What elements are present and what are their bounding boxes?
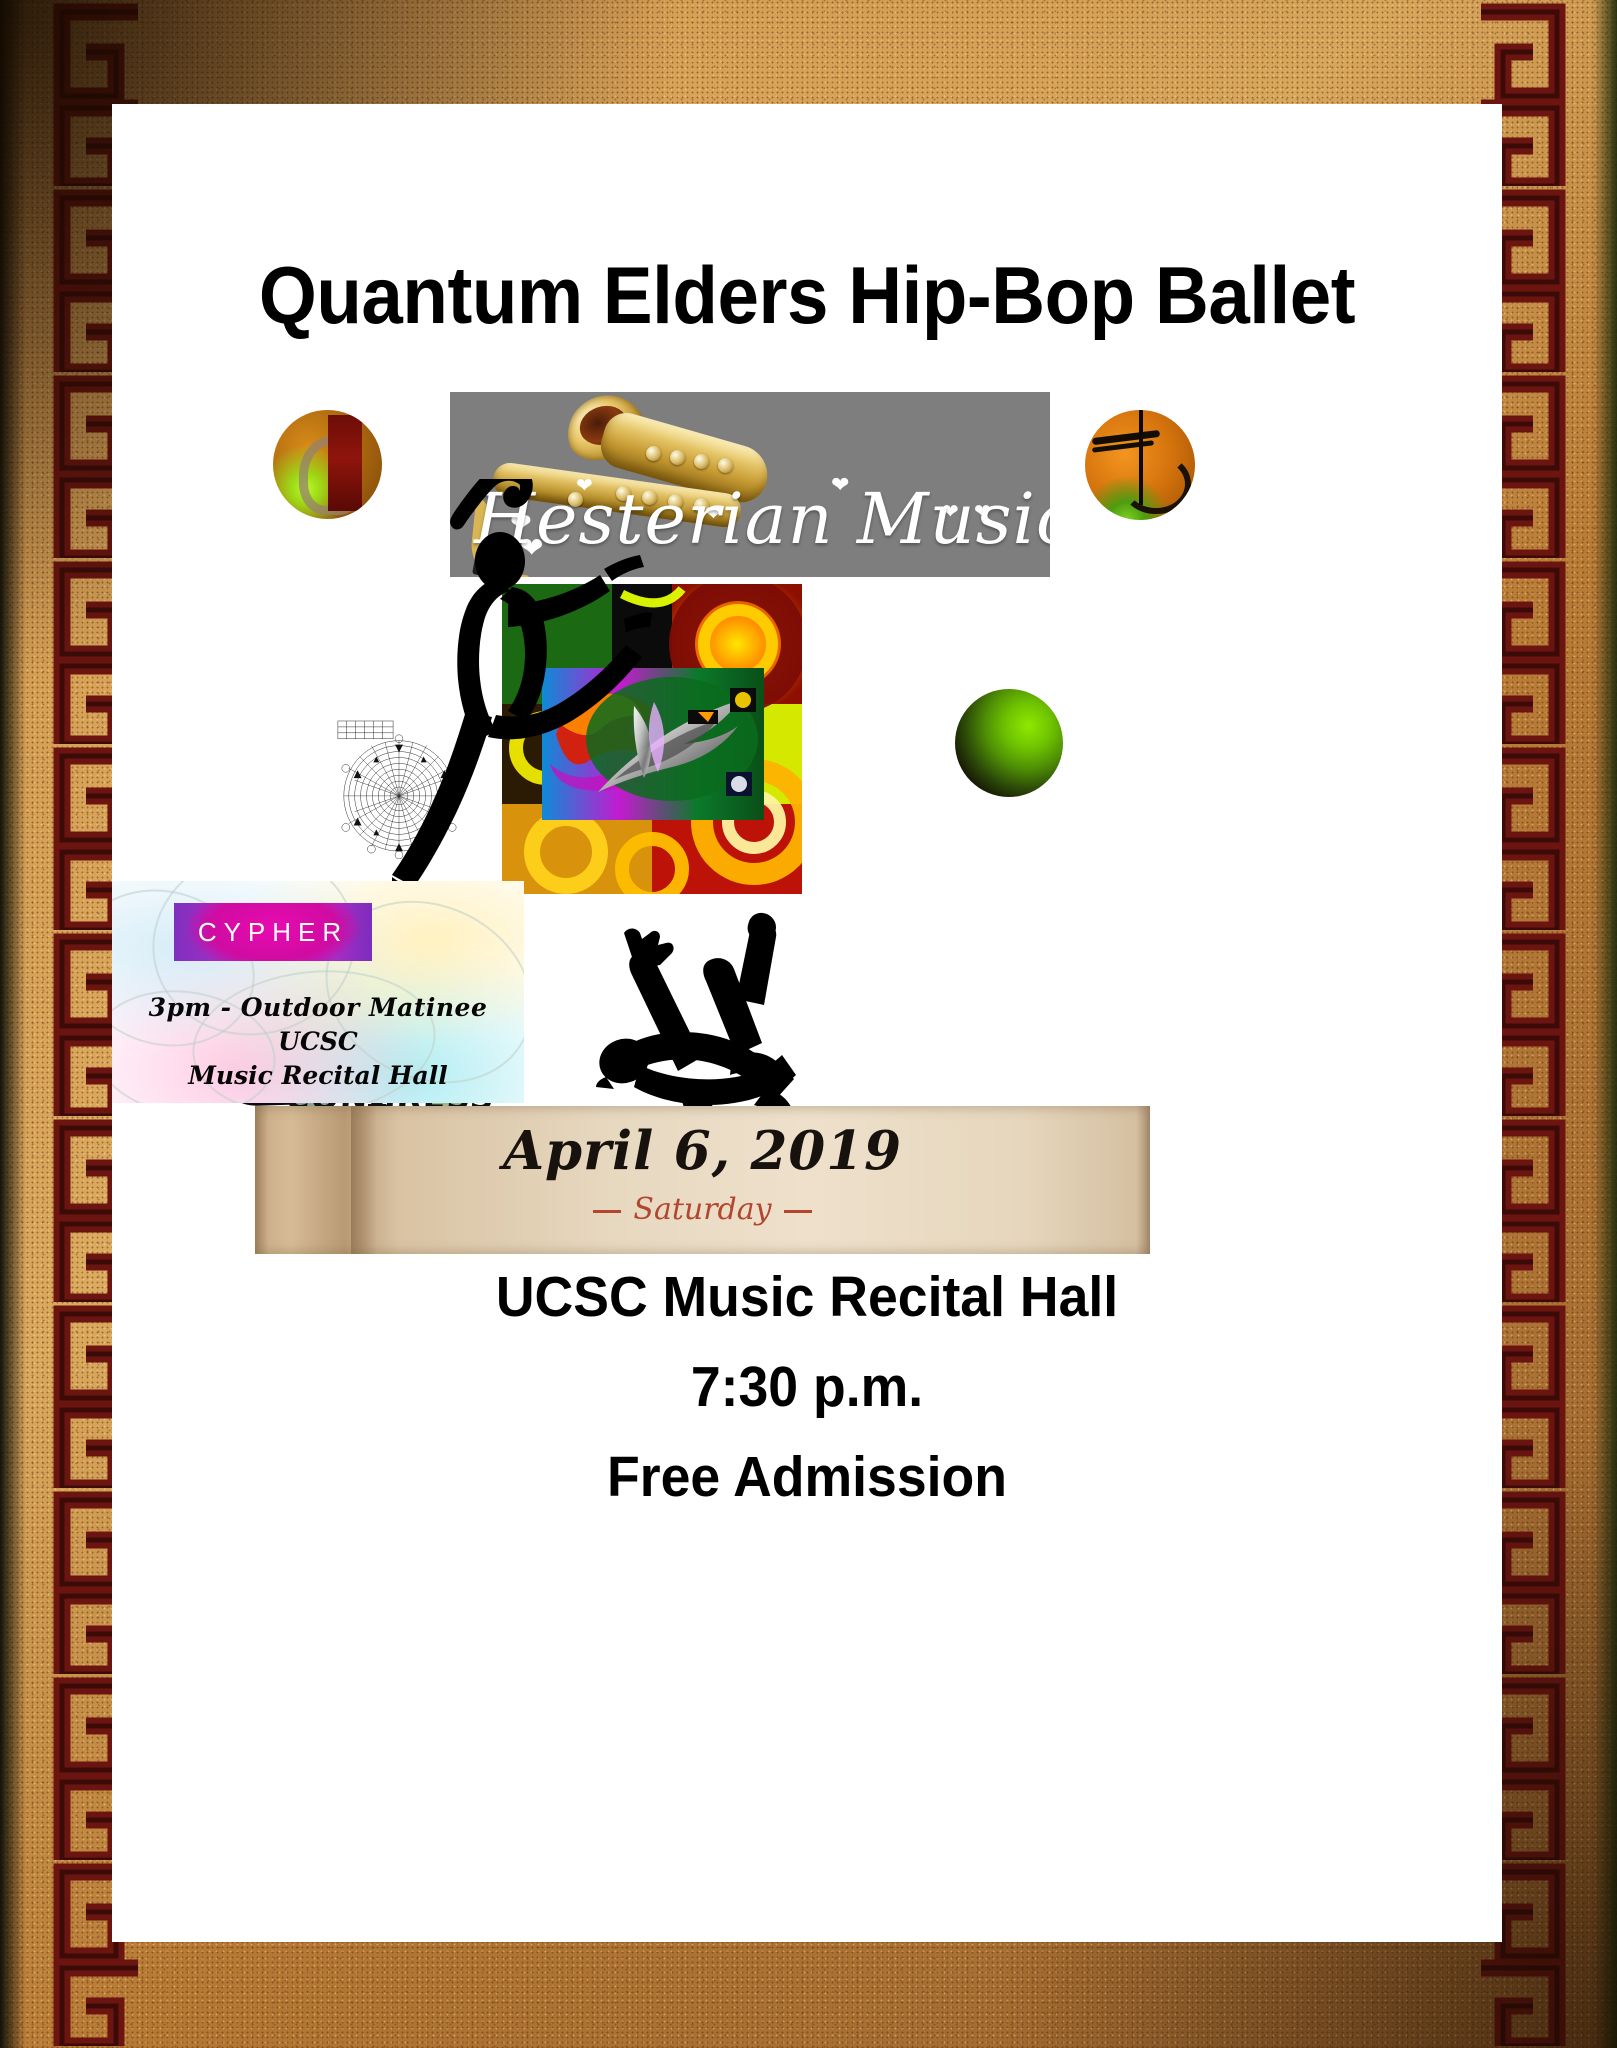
poster-canvas: Quantum Elders Hip-Bop Ballet ❤ ❤	[0, 0, 1617, 2048]
orb-right-sphere	[1085, 410, 1195, 520]
poster-page: Quantum Elders Hip-Bop Ballet ❤ ❤	[112, 104, 1502, 1942]
event-time: 7:30 p.m.	[154, 1354, 1461, 1420]
orb-left-sphere	[273, 410, 382, 519]
event-weekday: Saturday	[255, 1192, 1150, 1227]
orb-green-sphere	[955, 689, 1063, 797]
date-banner-scroll: April 6, 2019 Saturday	[255, 1106, 1150, 1254]
event-admission: Free Admission	[154, 1444, 1461, 1510]
cypher-line-2: UCSC	[128, 1027, 508, 1056]
cypher-logo-text: CYPHER	[174, 903, 372, 961]
event-venue: UCSC Music Recital Hall	[154, 1264, 1461, 1330]
ballerina-silhouette	[392, 479, 652, 909]
event-date: April 6, 2019	[255, 1120, 1150, 1182]
cypher-flyer: CYPHER 3pm - Outdoor Matinee UCSC Music …	[112, 881, 524, 1103]
page-title: Quantum Elders Hip-Bop Ballet	[168, 250, 1447, 343]
event-weekday-text: Saturday	[633, 1192, 771, 1227]
cypher-logo-box: CYPHER	[174, 903, 372, 961]
cypher-line-3: Music Recital Hall	[128, 1061, 508, 1090]
cypher-line-1: 3pm - Outdoor Matinee	[128, 993, 508, 1022]
